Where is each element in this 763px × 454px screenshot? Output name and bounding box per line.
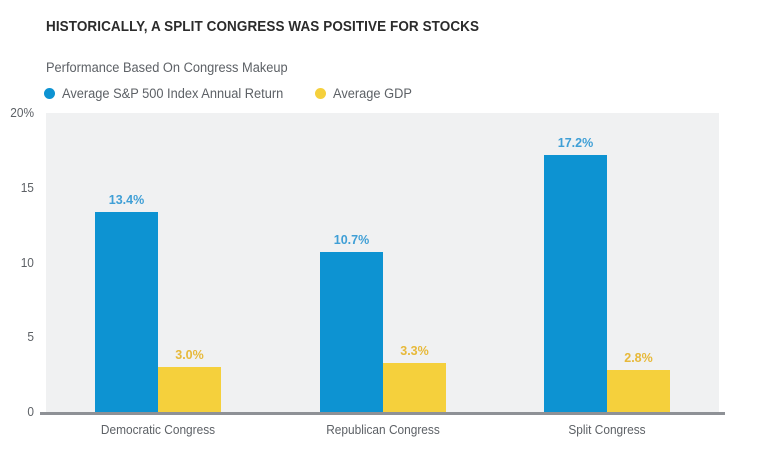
- x-axis-category-label: Republican Congress: [288, 423, 478, 437]
- bar[interactable]: 10.7%: [320, 252, 383, 412]
- bar-value-label: 3.3%: [400, 344, 429, 358]
- bar[interactable]: 13.4%: [95, 212, 158, 412]
- bar[interactable]: 3.3%: [383, 363, 446, 412]
- bar-value-label: 17.2%: [558, 136, 593, 150]
- bar-value-label: 2.8%: [624, 351, 653, 365]
- chart-container: HISTORICALLY, A SPLIT CONGRESS WAS POSIT…: [0, 0, 763, 454]
- bar[interactable]: 3.0%: [158, 367, 221, 412]
- bar-value-label: 3.0%: [175, 348, 204, 362]
- bar[interactable]: 2.8%: [607, 370, 670, 412]
- x-axis-category-label: Democratic Congress: [63, 423, 253, 437]
- x-axis-category-label: Split Congress: [512, 423, 702, 437]
- x-axis-line: [40, 412, 725, 415]
- bar-value-label: 13.4%: [109, 193, 144, 207]
- bar-value-label: 10.7%: [334, 233, 369, 247]
- bars-layer: 13.4%3.0%10.7%3.3%17.2%2.8%: [0, 0, 763, 412]
- bar[interactable]: 17.2%: [544, 155, 607, 412]
